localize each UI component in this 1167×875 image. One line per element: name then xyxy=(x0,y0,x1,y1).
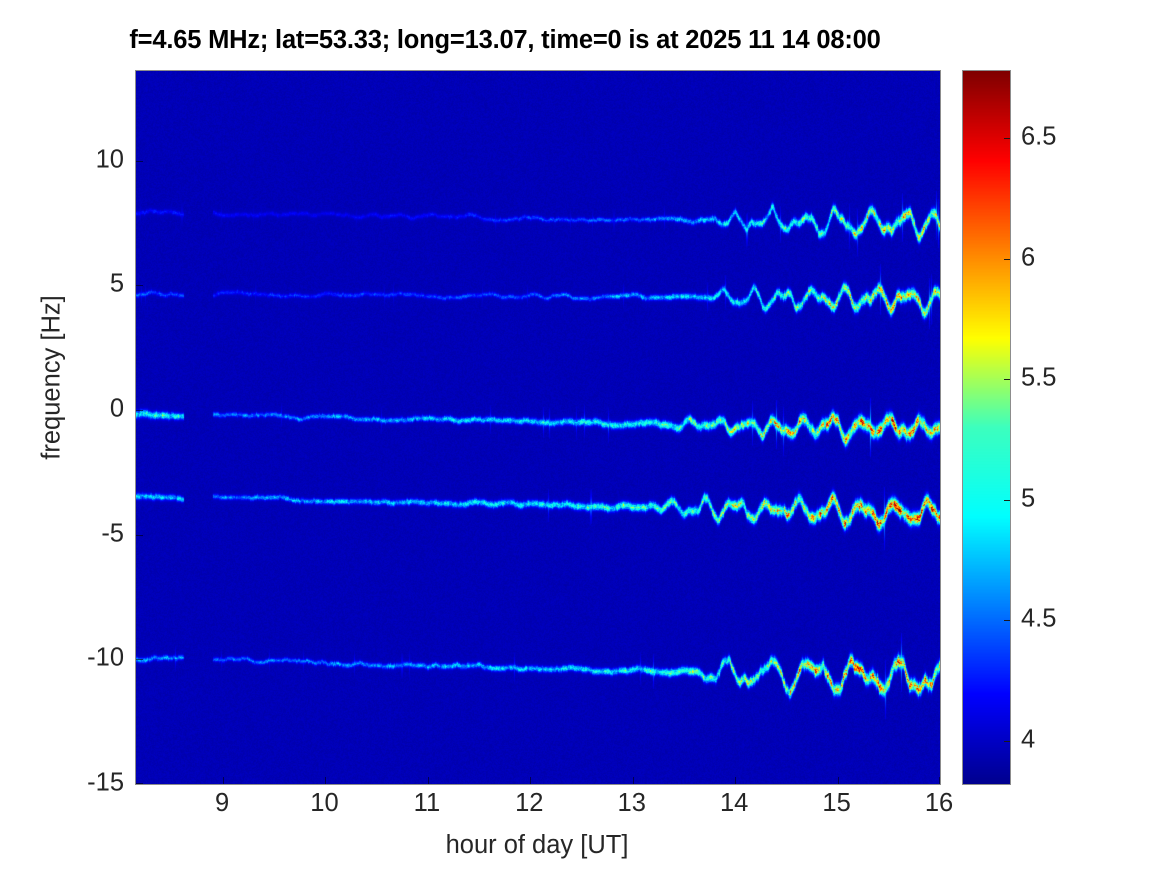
colorbar-tick-mark xyxy=(1004,138,1010,139)
colorbar-tick-label: 4.5 xyxy=(1021,605,1056,634)
x-tick-label: 11 xyxy=(414,789,440,818)
x-tick-label: 10 xyxy=(310,789,338,818)
x-tick-mark xyxy=(838,777,839,784)
x-tick-label: 16 xyxy=(925,789,953,818)
colorbar-tick-label: 6 xyxy=(1021,243,1035,272)
colorbar-gradient xyxy=(963,71,1010,784)
y-tick-label: -5 xyxy=(101,519,124,548)
spectrogram-axes[interactable] xyxy=(135,70,941,785)
colorbar-tick-label: 6.5 xyxy=(1021,123,1056,152)
colorbar-tick-label: 4 xyxy=(1021,725,1035,754)
x-tick-mark xyxy=(530,777,531,784)
y-tick-label: -10 xyxy=(87,644,124,673)
colorbar-tick-label: 5 xyxy=(1021,484,1035,513)
colorbar-tick-mark xyxy=(1004,259,1010,260)
colorbar[interactable] xyxy=(962,70,1011,785)
x-tick-mark xyxy=(633,777,634,784)
x-tick-mark xyxy=(939,777,940,784)
y-tick-label: 10 xyxy=(96,145,124,174)
x-axis-label: hour of day [UT] xyxy=(135,831,939,860)
x-tick-label: 9 xyxy=(215,789,229,818)
y-tick-mark xyxy=(136,783,143,784)
y-tick-label: -15 xyxy=(87,769,124,798)
x-tick-mark xyxy=(428,777,429,784)
y-tick-mark xyxy=(136,285,143,286)
y-tick-label: 5 xyxy=(110,270,124,299)
page-title: f=4.65 MHz; lat=53.33; long=13.07, time=… xyxy=(0,26,1010,55)
x-tick-mark xyxy=(325,777,326,784)
y-tick-mark xyxy=(136,535,143,536)
y-tick-mark xyxy=(136,659,143,660)
x-tick-mark xyxy=(735,777,736,784)
x-tick-label: 14 xyxy=(720,789,748,818)
figure-panel: f=4.65 MHz; lat=53.33; long=13.07, time=… xyxy=(0,0,1167,875)
y-tick-mark xyxy=(136,161,143,162)
y-axis-label: frequency [Hz] xyxy=(38,278,67,478)
colorbar-tick-mark xyxy=(1004,620,1010,621)
x-tick-label: 15 xyxy=(822,789,850,818)
spectrogram-image xyxy=(136,71,940,784)
colorbar-tick-label: 5.5 xyxy=(1021,364,1056,393)
colorbar-tick-mark xyxy=(1004,500,1010,501)
y-tick-mark xyxy=(136,410,143,411)
x-tick-label: 13 xyxy=(618,789,646,818)
x-tick-mark xyxy=(223,777,224,784)
x-tick-label: 12 xyxy=(515,789,543,818)
y-tick-label: 0 xyxy=(110,395,124,424)
colorbar-tick-mark xyxy=(1004,379,1010,380)
colorbar-tick-mark xyxy=(1004,741,1010,742)
